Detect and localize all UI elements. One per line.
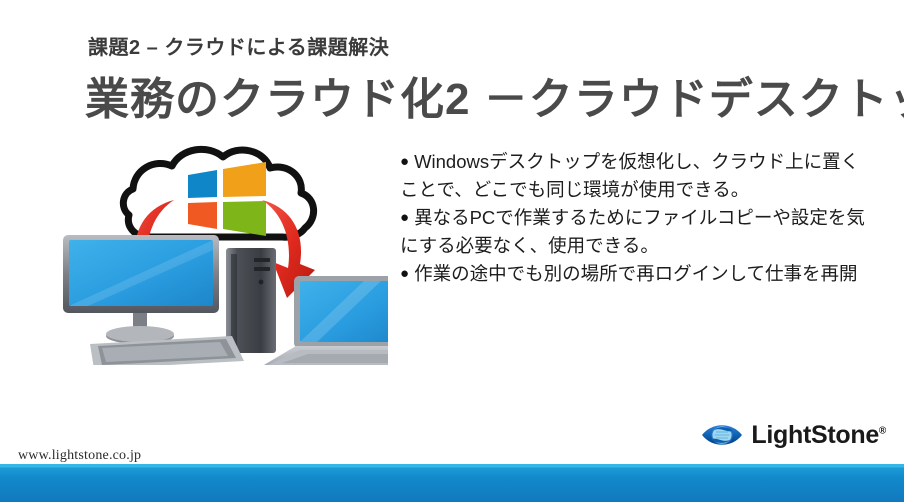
bullet-text-2: 異なるPCで作業するためにファイルコピーや設定を気にする必要なく、使用できる。 [400, 207, 865, 256]
registered-trademark-icon: ® [879, 425, 886, 436]
bullet-dot-icon: ● [400, 265, 409, 282]
footer-accent-bar [0, 464, 904, 502]
bullet-text-1: Windowsデスクトップを仮想化し、クラウド上に置くことで、どこでも同じ環境が… [400, 151, 859, 200]
lightstone-logo-text: LightStone® [751, 421, 886, 450]
footer-website-url[interactable]: www.lightstone.co.jp [18, 448, 141, 464]
lightstone-logo: LightStone® [700, 420, 886, 450]
bullet-list: ●Windowsデスクトップを仮想化し、クラウド上に置くことで、どこでも同じ環境… [400, 148, 868, 289]
lightstone-logo-mark [700, 420, 744, 450]
slide-canvas: 課題2 – クラウドによる課題解決 業務のクラウド化2 －クラウドデスクトップ [0, 0, 904, 502]
bullet-dot-icon: ● [400, 209, 409, 226]
desktop-computer [63, 235, 276, 365]
bullet-item-2: ●異なるPCで作業するためにファイルコピーや設定を気にする必要なく、使用できる。 [400, 204, 868, 260]
cloud-desktop-illustration [48, 130, 388, 365]
page-title: 業務のクラウド化2 －クラウドデスクトップ [85, 63, 904, 127]
bullet-item-1: ●Windowsデスクトップを仮想化し、クラウド上に置くことで、どこでも同じ環境… [400, 148, 868, 204]
logo-wordmark: LightStone [751, 421, 879, 449]
slide-subtitle: 課題2 – クラウドによる課題解決 [88, 31, 389, 60]
bullet-text-3: 作業の途中でも別の場所で再ログインして仕事を再開 [414, 263, 857, 284]
bullet-dot-icon: ● [400, 153, 409, 170]
bullet-item-3: ●作業の途中でも別の場所で再ログインして仕事を再開 [400, 260, 868, 288]
